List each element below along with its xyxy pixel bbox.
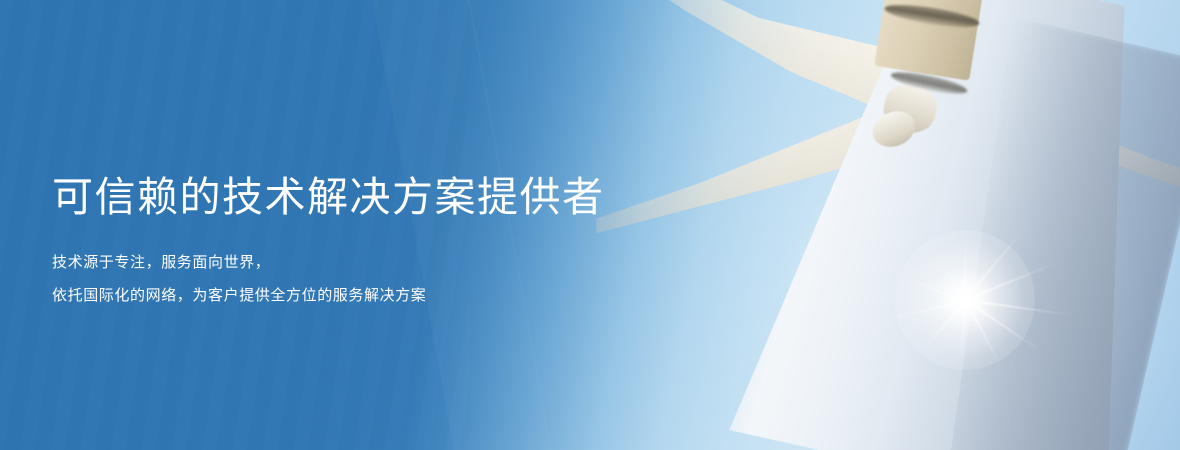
banner-subtitle-line-2: 依托国际化的网络，为客户提供全方位的服务解决方案: [52, 288, 672, 303]
banner-text-block: 可信赖的技术解决方案提供者 技术源于专注，服务面向世界， 依托国际化的网络，为客…: [52, 14, 672, 450]
banner-subtitle-line-1: 技术源于专注，服务面向世界，: [52, 255, 672, 270]
hero-banner: 可信赖的技术解决方案提供者 技术源于专注，服务面向世界， 依托国际化的网络，为客…: [0, 0, 1180, 450]
banner-headline: 可信赖的技术解决方案提供者: [52, 175, 672, 221]
